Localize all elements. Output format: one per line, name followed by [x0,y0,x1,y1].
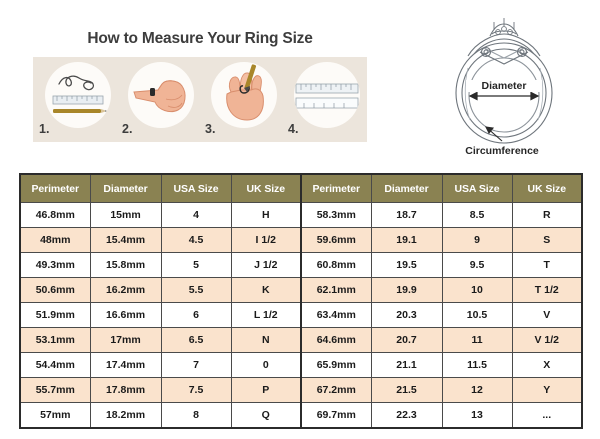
column-header-usa-size-left: USA Size [161,174,231,203]
column-header-perimeter-left: Perimeter [20,174,90,203]
cell-diameter-right: 21.5 [371,378,442,403]
table-header-row: Perimeter Diameter USA Size UK Size Peri… [20,174,582,203]
table-row: 51.9mm 16.6mm 6 L 1/2 63.4mm 20.3 10.5 V [20,303,582,328]
column-header-diameter-right: Diameter [371,174,442,203]
cell-diameter-left: 17.4mm [90,353,161,378]
cell-uk-size-right: V [512,303,582,328]
cell-usa-size-left: 8 [161,403,231,429]
cell-usa-size-right: 10.5 [442,303,512,328]
cell-perimeter-right: 60.8mm [301,253,371,278]
cell-perimeter-left: 49.3mm [20,253,90,278]
column-header-diameter-left: Diameter [90,174,161,203]
cell-diameter-left: 15.8mm [90,253,161,278]
cell-diameter-right: 21.1 [371,353,442,378]
table-row: 48mm 15.4mm 4.5 I 1/2 59.6mm 19.1 9 S [20,228,582,253]
cell-uk-size-right: R [512,203,582,228]
cell-diameter-left: 16.6mm [90,303,161,328]
cell-diameter-right: 20.3 [371,303,442,328]
cell-uk-size-right: V 1/2 [512,328,582,353]
cell-uk-size-right: X [512,353,582,378]
cell-diameter-left: 17mm [90,328,161,353]
step-1: 1. [37,62,112,137]
column-header-perimeter-right: Perimeter [301,174,371,203]
step-4-circle [294,62,360,128]
cell-perimeter-right: 59.6mm [301,228,371,253]
cell-usa-size-right: 8.5 [442,203,512,228]
cell-perimeter-left: 50.6mm [20,278,90,303]
cell-uk-size-left: I 1/2 [231,228,301,253]
table-row: 49.3mm 15.8mm 5 J 1/2 60.8mm 19.5 9.5 T [20,253,582,278]
cell-diameter-right: 19.9 [371,278,442,303]
table-row: 57mm 18.2mm 8 Q 69.7mm 22.3 13 ... [20,403,582,429]
cell-usa-size-right: 11.5 [442,353,512,378]
cell-usa-size-right: 9.5 [442,253,512,278]
cell-perimeter-left: 57mm [20,403,90,429]
cell-diameter-right: 22.3 [371,403,442,429]
cell-usa-size-left: 7.5 [161,378,231,403]
cell-diameter-left: 18.2mm [90,403,161,429]
cell-uk-size-left: P [231,378,301,403]
step-2: 2. [120,62,195,137]
cell-diameter-right: 19.1 [371,228,442,253]
measure-steps-panel: 1. 2. 3. [33,57,367,142]
step-1-number: 1. [39,122,49,136]
cell-usa-size-left: 6.5 [161,328,231,353]
cell-uk-size-right: S [512,228,582,253]
cell-uk-size-left: H [231,203,301,228]
cell-usa-size-left: 7 [161,353,231,378]
cell-perimeter-right: 58.3mm [301,203,371,228]
step-3-circle [211,62,277,128]
cell-perimeter-left: 53.1mm [20,328,90,353]
cell-usa-size-left: 5.5 [161,278,231,303]
cell-usa-size-right: 9 [442,228,512,253]
table-row: 53.1mm 17mm 6.5 N 64.6mm 20.7 11 V 1/2 [20,328,582,353]
pointing-hand-icon [128,62,194,128]
cell-uk-size-right: ... [512,403,582,429]
step-1-circle [45,62,111,128]
step-4-number: 4. [288,122,298,136]
cell-uk-size-left: Q [231,403,301,429]
cell-diameter-left: 15.4mm [90,228,161,253]
column-header-uk-size-left: UK Size [231,174,301,203]
cell-usa-size-left: 5 [161,253,231,278]
table-row: 50.6mm 16.2mm 5.5 K 62.1mm 19.9 10 T 1/2 [20,278,582,303]
cell-uk-size-right: T 1/2 [512,278,582,303]
cell-diameter-left: 16.2mm [90,278,161,303]
column-header-uk-size-right: UK Size [512,174,582,203]
cell-uk-size-left: N [231,328,301,353]
cell-perimeter-right: 69.7mm [301,403,371,429]
cell-perimeter-left: 54.4mm [20,353,90,378]
cell-perimeter-right: 63.4mm [301,303,371,328]
step-3-number: 3. [205,122,215,136]
step-3: 3. [203,62,278,137]
cell-uk-size-left: K [231,278,301,303]
cell-perimeter-right: 65.9mm [301,353,371,378]
cell-perimeter-left: 46.8mm [20,203,90,228]
step-4: 4. [286,62,361,137]
page-title: How to Measure Your Ring Size [0,30,400,48]
ring-diagram: Diameter Circumference [424,8,600,160]
step-2-number: 2. [122,122,132,136]
cell-usa-size-left: 4.5 [161,228,231,253]
table-row: 55.7mm 17.8mm 7.5 P 67.2mm 21.5 12 Y [20,378,582,403]
cell-diameter-right: 20.7 [371,328,442,353]
ruler-measure-icon [294,62,360,128]
cell-diameter-left: 17.8mm [90,378,161,403]
cell-perimeter-right: 62.1mm [301,278,371,303]
cell-usa-size-left: 4 [161,203,231,228]
cell-uk-size-left: J 1/2 [231,253,301,278]
cell-usa-size-left: 6 [161,303,231,328]
cell-uk-size-right: T [512,253,582,278]
cell-uk-size-left: 0 [231,353,301,378]
hand-string-around-finger-icon [211,62,277,128]
cell-usa-size-right: 11 [442,328,512,353]
circumference-label: Circumference [448,145,556,157]
cell-diameter-right: 18.7 [371,203,442,228]
cell-perimeter-left: 48mm [20,228,90,253]
ring-size-table: Perimeter Diameter USA Size UK Size Peri… [19,173,583,429]
cell-uk-size-right: Y [512,378,582,403]
cell-usa-size-right: 13 [442,403,512,429]
diameter-label: Diameter [466,80,542,92]
cell-perimeter-right: 67.2mm [301,378,371,403]
cell-perimeter-right: 64.6mm [301,328,371,353]
cell-perimeter-left: 51.9mm [20,303,90,328]
cell-diameter-right: 19.5 [371,253,442,278]
column-header-usa-size-right: USA Size [442,174,512,203]
cell-uk-size-left: L 1/2 [231,303,301,328]
step-2-circle [128,62,194,128]
cell-usa-size-right: 12 [442,378,512,403]
cell-diameter-left: 15mm [90,203,161,228]
cell-perimeter-left: 55.7mm [20,378,90,403]
string-ruler-pencil-icon [45,62,111,128]
cell-usa-size-right: 10 [442,278,512,303]
table-row: 46.8mm 15mm 4 H 58.3mm 18.7 8.5 R [20,203,582,228]
table-row: 54.4mm 17.4mm 7 0 65.9mm 21.1 11.5 X [20,353,582,378]
